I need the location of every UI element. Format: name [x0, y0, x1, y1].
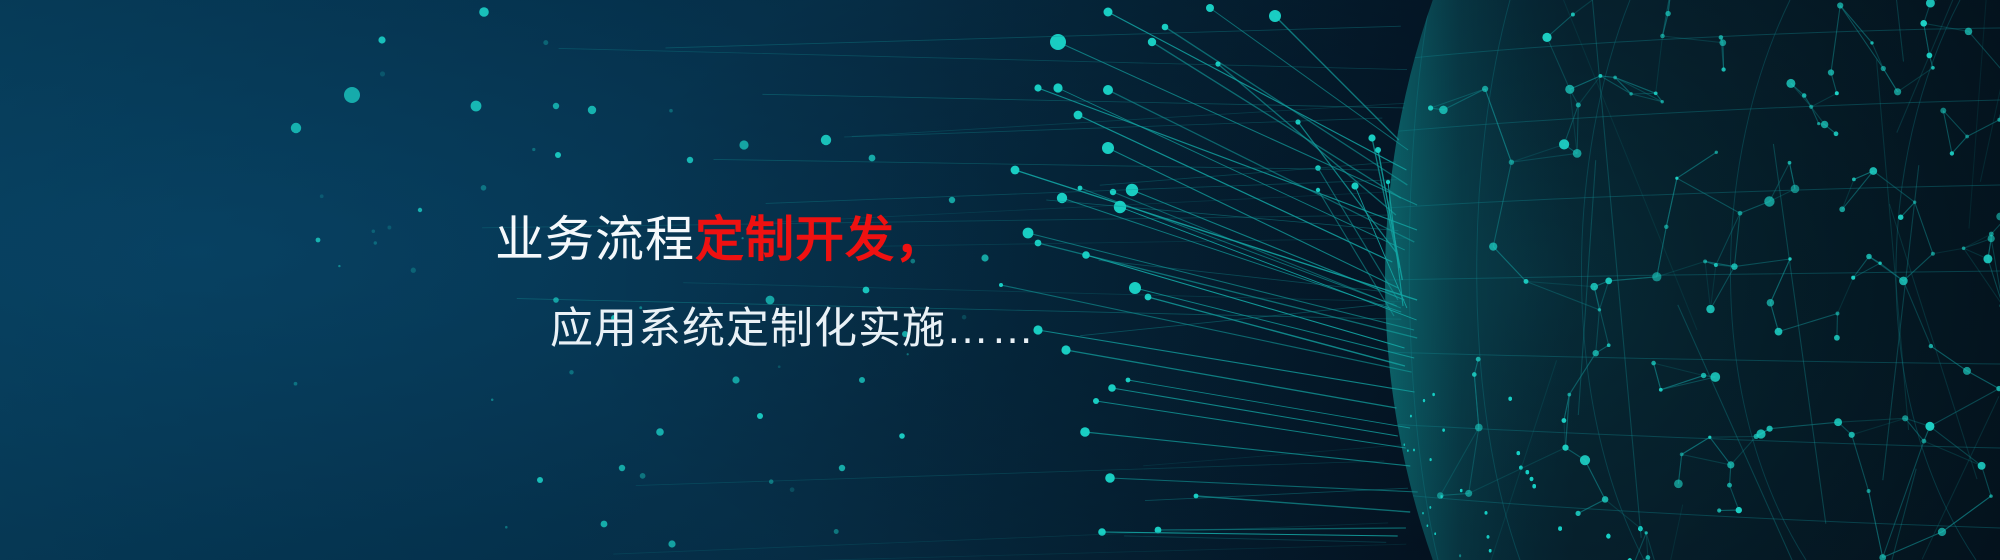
hero-banner: 业务流程定制开发， 应用系统定制化实施…… — [0, 0, 2000, 560]
floating-particle-dots — [0, 0, 2000, 560]
